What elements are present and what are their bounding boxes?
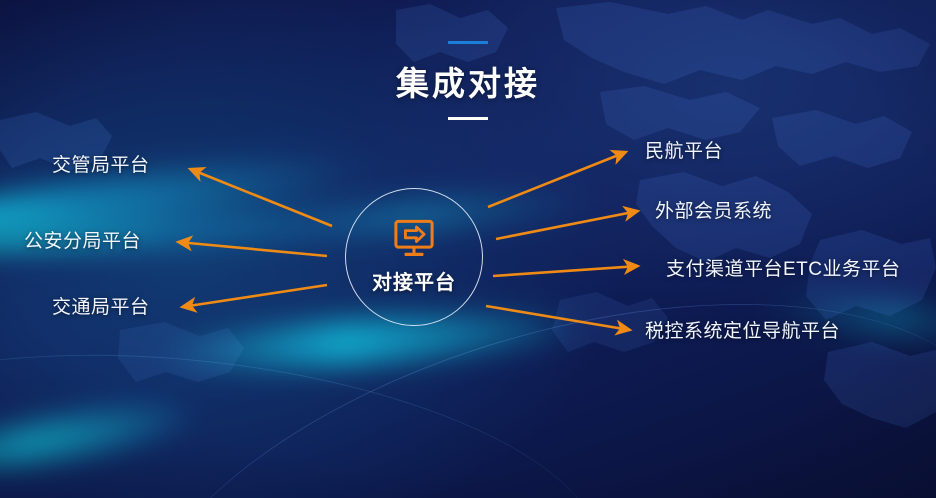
node-zhifuqudao-etc[interactable]: 支付渠道平台ETC业务平台: [666, 254, 901, 281]
node-label: 交通局平台: [52, 297, 150, 318]
node-label: 支付渠道平台ETC业务平台: [666, 259, 901, 280]
title-rule-bottom: [448, 117, 488, 120]
node-waibuhuiyuan[interactable]: 外部会员系统: [655, 196, 772, 223]
slide-canvas: 集成对接 对接平台 交管局平台 公: [0, 0, 936, 498]
node-label: 交管局平台: [52, 155, 150, 176]
node-label: 民航平台: [645, 141, 723, 162]
monitor-arrow-icon: [393, 219, 435, 259]
node-minhang[interactable]: 民航平台: [645, 136, 723, 163]
page-title: 集成对接: [0, 57, 936, 105]
node-label: 公安分局平台: [24, 231, 141, 252]
node-shuikong-daohang[interactable]: 税控系统定位导航平台: [645, 316, 840, 343]
hub-node[interactable]: 对接平台: [345, 188, 483, 326]
hub-label: 对接平台: [372, 266, 456, 295]
node-label: 外部会员系统: [655, 201, 772, 222]
node-gonganfenju[interactable]: 公安分局平台: [24, 226, 141, 253]
title-rule-top: [448, 41, 488, 44]
page-header: 集成对接: [0, 30, 936, 120]
node-jiaoguanju[interactable]: 交管局平台: [52, 150, 150, 177]
node-jiaotongju[interactable]: 交通局平台: [52, 292, 150, 319]
node-label: 税控系统定位导航平台: [645, 321, 840, 342]
